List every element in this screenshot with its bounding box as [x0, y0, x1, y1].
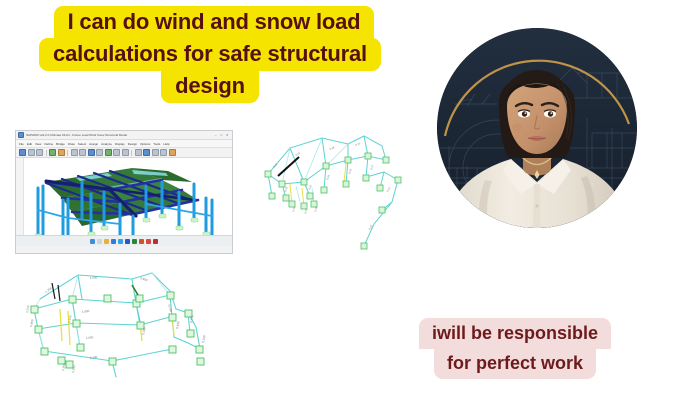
portrait-illustration: [437, 28, 637, 228]
svg-text:1.800: 1.800: [82, 309, 90, 314]
open-file-icon[interactable]: [28, 149, 35, 156]
snap-icon[interactable]: [160, 149, 167, 156]
undo-icon[interactable]: [49, 149, 56, 156]
app-logo-icon: [18, 132, 24, 138]
selected-member: [132, 285, 138, 295]
headline-line-1: I can do wind and snow load: [54, 6, 375, 39]
headline-banner: I can do wind and snow load calculations…: [0, 6, 420, 103]
zoom-out-icon[interactable]: [79, 149, 86, 156]
svg-text:0.450: 0.450: [29, 319, 35, 327]
windows-taskbar[interactable]: [16, 235, 232, 246]
menu-analyze[interactable]: Analyze: [101, 142, 112, 146]
toolbar-separator: [131, 150, 132, 156]
excel-icon[interactable]: [132, 239, 137, 244]
svg-text:0.15: 0.15: [367, 224, 373, 231]
callout-line-2: for perfect work: [434, 348, 596, 379]
svg-text:0.410: 0.410: [189, 315, 195, 323]
word-icon[interactable]: [125, 239, 130, 244]
menu-help[interactable]: Help: [163, 142, 169, 146]
callout-banner: iwill be responsible for perfect work: [390, 318, 640, 379]
app-toolbar[interactable]: [16, 148, 232, 158]
assign-load-icon[interactable]: [113, 149, 120, 156]
menu-file[interactable]: File: [19, 142, 24, 146]
search-icon[interactable]: [97, 239, 102, 244]
callout-line-1: iwill be responsible: [419, 318, 611, 349]
toolbar-separator: [46, 150, 47, 156]
svg-text:0.26: 0.26: [325, 174, 331, 181]
svg-text:1.500: 1.500: [90, 275, 98, 280]
properties-icon[interactable]: [143, 149, 150, 156]
app-menubar[interactable]: File Edit View Define Bridge Draw Select…: [16, 140, 232, 148]
svg-text:0.21: 0.21: [385, 186, 391, 193]
svg-text:0.210: 0.210: [25, 305, 30, 313]
menu-draw[interactable]: Draw: [68, 142, 75, 146]
menu-select[interactable]: Select: [78, 142, 86, 146]
wireframe-bottom-svg: 1.200 1.500 0.900 0.750 1.800 1.650 2.10…: [20, 265, 215, 383]
wireframe-model-top: 0.35 0.42 0.28 0.31 0.19 0.22 0.26 0.24 …: [252, 126, 412, 251]
start-icon[interactable]: [90, 239, 95, 244]
autocad-icon[interactable]: [153, 239, 158, 244]
svg-text:0.31: 0.31: [355, 141, 362, 147]
app-window-title: SAP2000 v22.2.0 Ultimate 64-bit - Frame …: [26, 133, 213, 137]
headline-line-2: calculations for safe structural: [39, 38, 381, 71]
svg-text:0.750: 0.750: [167, 304, 173, 313]
svg-text:0.640: 0.640: [175, 321, 181, 329]
app-titlebar: SAP2000 v22.2.0 Ultimate 64-bit - Frame …: [16, 131, 232, 140]
explorer-icon[interactable]: [104, 239, 109, 244]
svg-text:1.200: 1.200: [44, 286, 53, 294]
svg-text:0.42: 0.42: [295, 151, 302, 157]
avatar: [437, 28, 637, 228]
svg-text:0.380: 0.380: [141, 327, 147, 335]
viewport-left-rail[interactable]: [16, 158, 24, 246]
svg-text:0.330: 0.330: [201, 335, 207, 343]
menu-display[interactable]: Display: [115, 142, 125, 146]
browser-icon[interactable]: [111, 239, 116, 244]
selected-member: [278, 157, 299, 176]
headline-line-3: design: [161, 70, 259, 103]
svg-text:0.17: 0.17: [369, 164, 375, 171]
menu-define[interactable]: Define: [44, 142, 53, 146]
rotate-3d-icon[interactable]: [96, 149, 103, 156]
toolbar-separator: [67, 150, 68, 156]
svg-text:1.650: 1.650: [86, 335, 94, 340]
new-file-icon[interactable]: [19, 149, 26, 156]
svg-text:0.260: 0.260: [61, 363, 66, 371]
model-viewport[interactable]: [16, 158, 232, 246]
sap2000-icon[interactable]: [146, 239, 151, 244]
menu-tools[interactable]: Tools: [153, 142, 160, 146]
select-icon[interactable]: [135, 149, 142, 156]
grid-icon[interactable]: [152, 149, 159, 156]
pan-icon[interactable]: [88, 149, 95, 156]
menu-design[interactable]: Design: [128, 142, 137, 146]
zoom-in-icon[interactable]: [71, 149, 78, 156]
run-analysis-icon[interactable]: [105, 149, 112, 156]
settings-icon[interactable]: [169, 149, 176, 156]
thumbnail-canvas: I can do wind and snow load calculations…: [0, 0, 680, 409]
window-controls[interactable]: – □ ✕: [215, 133, 230, 137]
structural-software-screenshot: SAP2000 v22.2.0 Ultimate 64-bit - Frame …: [15, 130, 233, 254]
redo-icon[interactable]: [58, 149, 65, 156]
svg-text:0.24: 0.24: [347, 168, 353, 175]
svg-text:0.900: 0.900: [140, 276, 149, 282]
3d-structural-model: [16, 158, 232, 246]
wireframe-top-svg: 0.35 0.42 0.28 0.31 0.19 0.22 0.26 0.24 …: [252, 126, 412, 251]
wireframe-model-bottom: 1.200 1.500 0.900 0.750 1.800 1.650 2.10…: [20, 265, 215, 383]
menu-assign[interactable]: Assign: [89, 142, 98, 146]
save-icon[interactable]: [36, 149, 43, 156]
powerpoint-icon[interactable]: [139, 239, 144, 244]
svg-text:0.28: 0.28: [329, 145, 336, 151]
svg-text:0.290: 0.290: [71, 365, 76, 373]
menu-view[interactable]: View: [35, 142, 41, 146]
display-forces-icon[interactable]: [122, 149, 129, 156]
svg-text:0.520: 0.520: [67, 315, 73, 323]
mail-icon[interactable]: [118, 239, 123, 244]
menu-options[interactable]: Options: [140, 142, 150, 146]
menu-bridge[interactable]: Bridge: [56, 142, 65, 146]
menu-edit[interactable]: Edit: [27, 142, 32, 146]
